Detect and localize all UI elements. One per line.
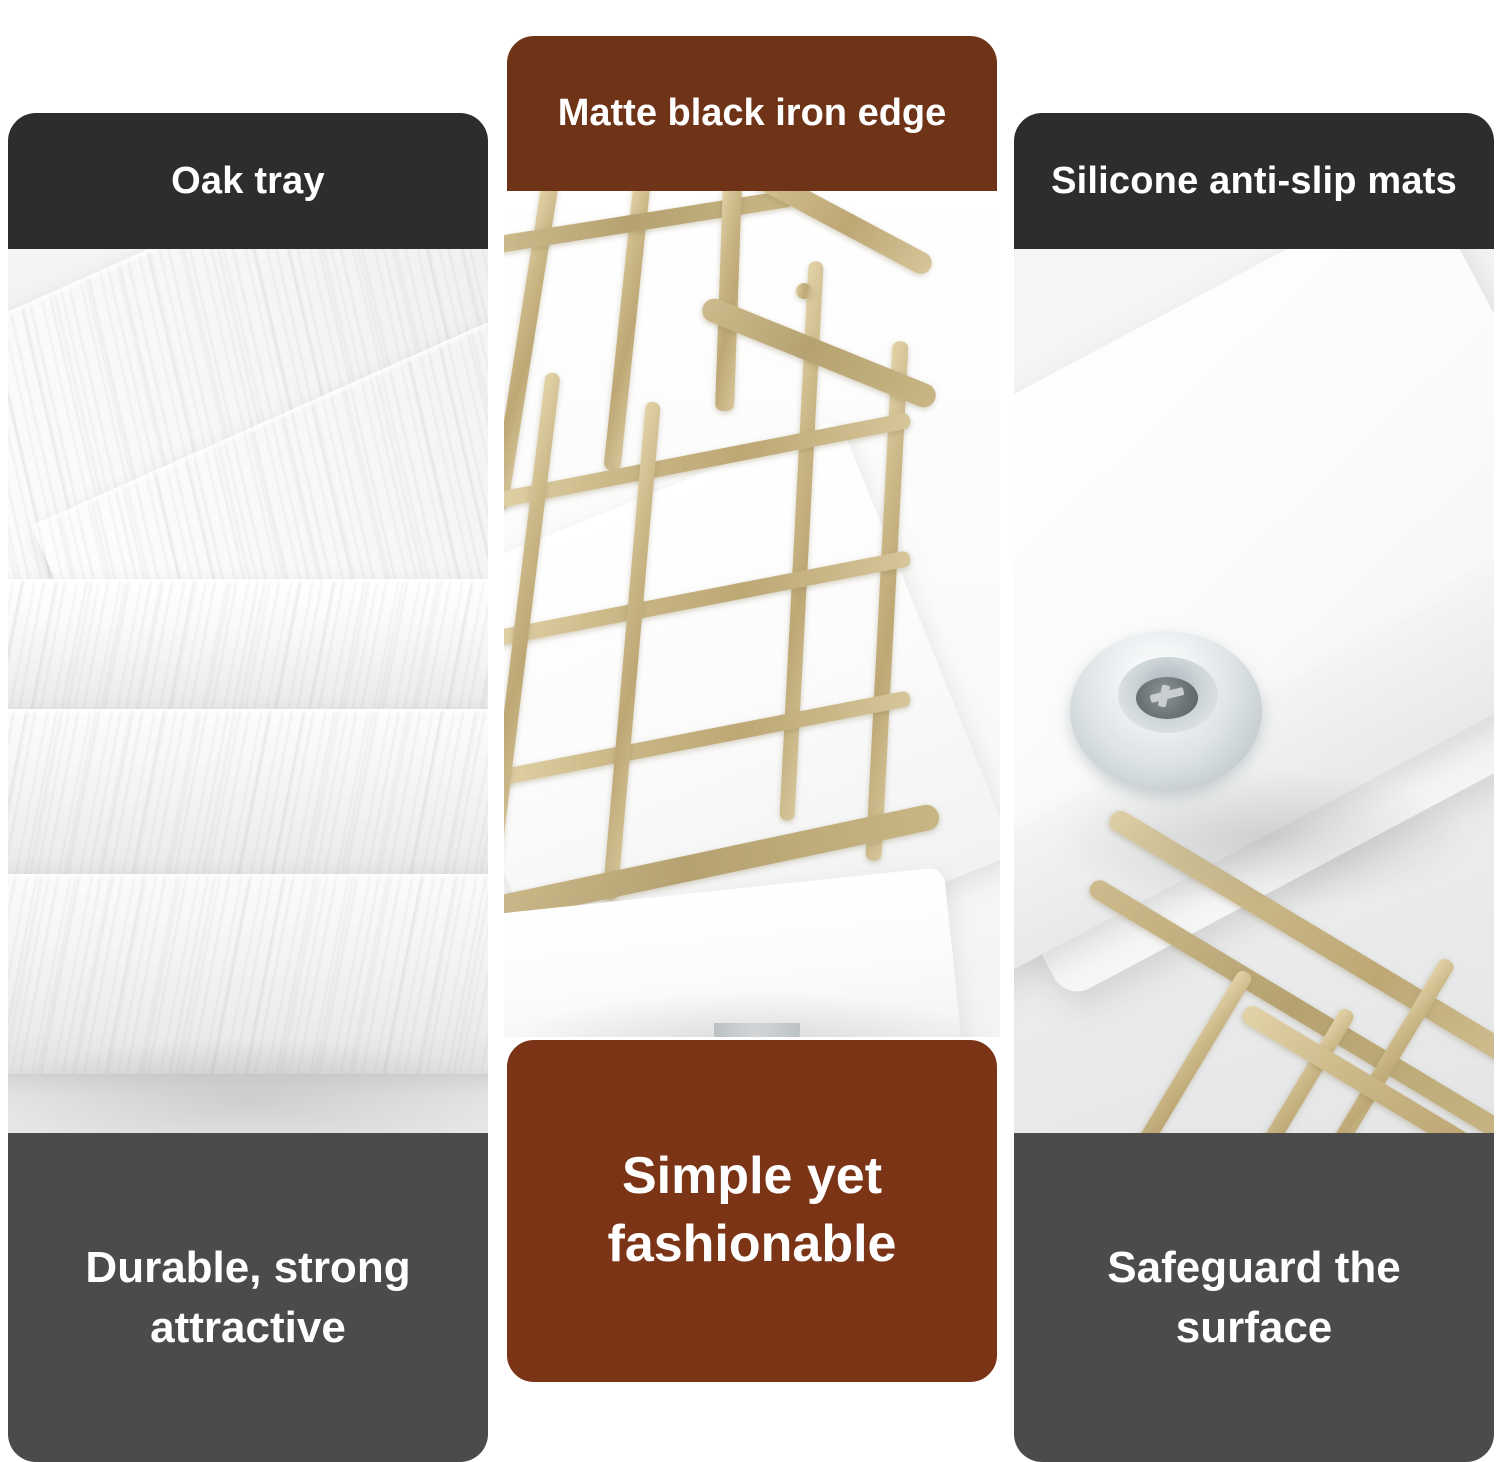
panel-caption-safeguard-the-surface: Safeguard the surface bbox=[1014, 1133, 1494, 1462]
panel-matte-black-iron-edge: Matte black iron edge Simple yet fashion… bbox=[504, 33, 1000, 1385]
infographic-root: Oak tray Durable, strong attractive bbox=[0, 0, 1500, 1462]
panel-header-oak-tray: Oak tray bbox=[8, 113, 488, 249]
panel-caption-durable-strong-attractive: Durable, strong attractive bbox=[8, 1133, 488, 1462]
panel-oak-tray: Oak tray Durable, strong attractive bbox=[8, 113, 488, 1462]
oak-step-upper bbox=[8, 579, 488, 719]
plank-edge-highlight bbox=[8, 874, 488, 880]
plank-edge-highlight bbox=[8, 709, 488, 715]
product-photo-silicone-mats bbox=[1014, 249, 1494, 1133]
oak-step-middle bbox=[8, 709, 488, 889]
product-photo-iron-edge bbox=[504, 191, 1000, 1037]
panel-caption-simple-yet-fashionable: Simple yet fashionable bbox=[504, 1037, 1000, 1385]
plank-edge-highlight bbox=[8, 579, 488, 585]
product-photo-oak-tray bbox=[8, 249, 488, 1133]
panel-header-matte-black-iron-edge: Matte black iron edge bbox=[504, 33, 1000, 191]
wood-grain-texture bbox=[8, 874, 488, 1074]
oak-step-lower bbox=[8, 874, 488, 1074]
gold-post-under-1 bbox=[1070, 968, 1254, 1133]
panel-silicone-anti-slip-mats: Silicone anti-slip mats Safeguard the su… bbox=[1014, 113, 1494, 1462]
wood-grain-texture bbox=[8, 709, 488, 889]
panel-header-silicone-anti-slip-mats: Silicone anti-slip mats bbox=[1014, 113, 1494, 249]
wood-grain-texture bbox=[8, 579, 488, 719]
silicone-foot bbox=[714, 1023, 800, 1037]
gold-rivet bbox=[796, 283, 812, 299]
